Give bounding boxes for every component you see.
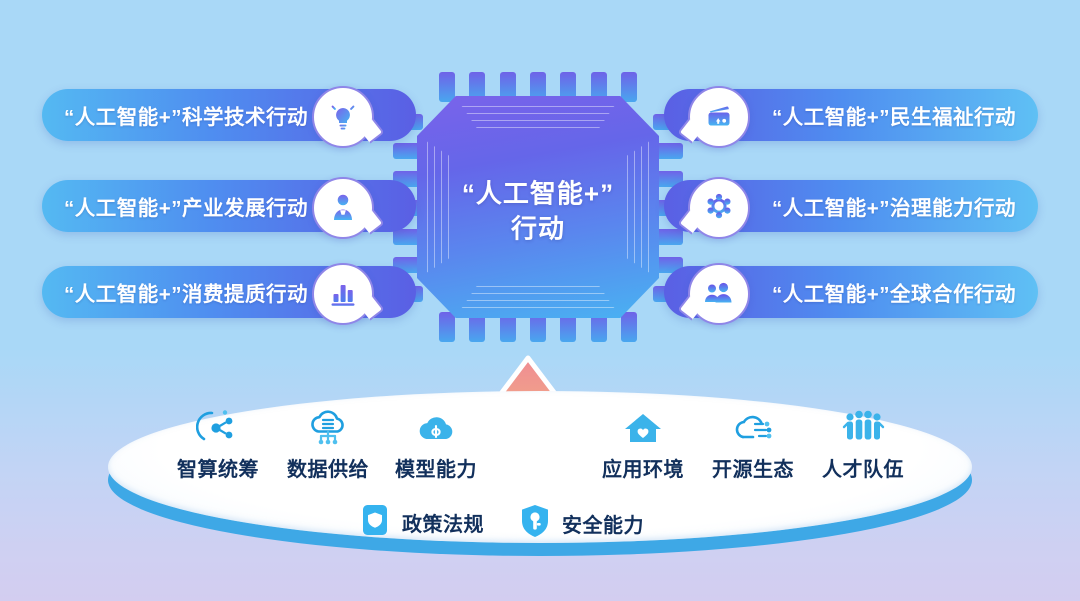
action-pill-label: “人工智能+”消费提质行动 — [64, 277, 308, 307]
foundation-item-talent[interactable]: 人才队伍 — [803, 405, 923, 482]
bar-chart-icon-badge[interactable] — [312, 263, 374, 325]
governance-network-icon — [702, 191, 736, 225]
people-group-icon — [702, 277, 736, 311]
industry-icon-badge[interactable] — [312, 177, 374, 239]
foundation-item-data[interactable]: 数据供给 — [268, 405, 388, 482]
security-shield-key-icon — [520, 503, 550, 544]
action-pill-label: “人工智能+”民生福祉行动 — [772, 100, 1016, 130]
governance-network-icon-badge[interactable] — [688, 177, 750, 239]
action-pill-label: “人工智能+”产业发展行动 — [64, 191, 308, 221]
chip-title-line2: 行动 — [417, 211, 659, 245]
wallet-icon — [703, 101, 735, 133]
lightbulb-icon — [326, 100, 360, 134]
foundation-item-policy[interactable]: 政策法规 — [360, 503, 484, 542]
foundation-item-label: 人才队伍 — [803, 453, 923, 482]
house-heart-icon — [583, 405, 703, 449]
foundation-item-label: 应用环境 — [583, 453, 703, 482]
foundation-item-environment[interactable]: 应用环境 — [583, 405, 703, 482]
wallet-icon-badge[interactable] — [688, 86, 750, 148]
action-pill-label: “人工智能+”科学技术行动 — [64, 100, 308, 130]
chip-title: “人工智能+” 行动 — [417, 177, 659, 246]
chip-pin — [621, 72, 637, 102]
people-group-icon-badge[interactable] — [688, 263, 750, 325]
foundation-item-opensource[interactable]: 开源生态 — [693, 405, 813, 482]
foundation-item-label: 开源生态 — [693, 453, 813, 482]
chip-title-line1: “人工智能+” — [462, 179, 614, 209]
infographic-canvas: “人工智能+” 行动 “人工智能+”科学技术行动 “人工智能+”产业发展行动 — [0, 0, 1080, 601]
lightbulb-icon-badge[interactable] — [312, 86, 374, 148]
foundation-item-label: 数据供给 — [268, 453, 388, 482]
foundation-item-label: 安全能力 — [562, 509, 644, 538]
cloud-data-icon — [268, 405, 388, 449]
foundation-item-model[interactable]: 模型能力 — [376, 405, 496, 482]
chip-pin — [439, 72, 455, 102]
foundation-item-label: 模型能力 — [376, 453, 496, 482]
compute-network-icon — [158, 405, 278, 449]
central-chip: “人工智能+” 行动 — [393, 72, 683, 342]
foundation-item-label: 智算统筹 — [158, 453, 278, 482]
chip-pin — [621, 312, 637, 342]
foundation-item-label: 政策法规 — [402, 508, 484, 537]
policy-shield-icon — [360, 503, 390, 542]
foundation-item-security[interactable]: 安全能力 — [520, 503, 644, 544]
action-pill-label: “人工智能+”全球合作行动 — [772, 277, 1016, 307]
chip-pin — [439, 312, 455, 342]
cloud-brain-icon — [376, 405, 496, 449]
chip-body: “人工智能+” 行动 — [417, 96, 659, 318]
foundation-content: 智算统筹 数据供给 — [108, 391, 972, 543]
open-source-cloud-icon — [693, 405, 813, 449]
industry-icon — [326, 191, 360, 225]
talent-people-icon — [803, 405, 923, 449]
foundation-item-compute[interactable]: 智算统筹 — [158, 405, 278, 482]
action-pill-label: “人工智能+”治理能力行动 — [772, 191, 1016, 221]
bar-chart-icon — [327, 278, 359, 310]
